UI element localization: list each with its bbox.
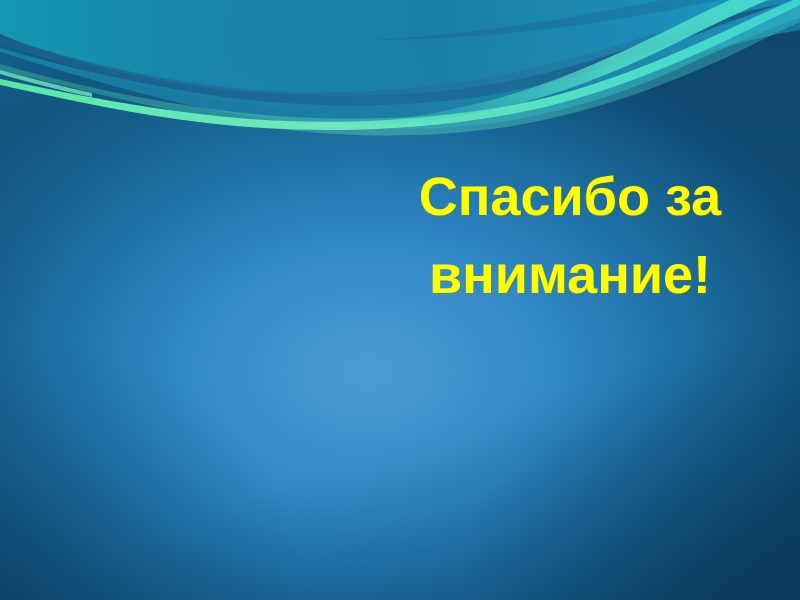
slide-title: Спасибо за внимание! xyxy=(360,158,780,314)
wave-ribbon-decoration xyxy=(0,0,800,180)
title-line-2: внимание! xyxy=(360,236,780,314)
title-line-1: Спасибо за xyxy=(360,158,780,236)
presentation-slide: Спасибо за внимание! xyxy=(0,0,800,600)
